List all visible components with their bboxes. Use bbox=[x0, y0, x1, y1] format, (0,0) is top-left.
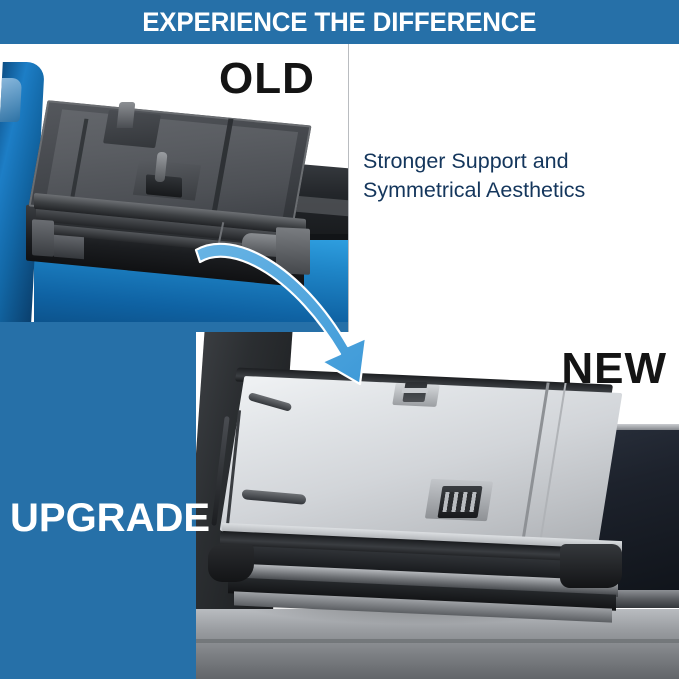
new-truck-bed-floor-seam bbox=[196, 639, 679, 643]
old-cover-bracket-right bbox=[276, 227, 310, 275]
upgrade-label: UPGRADE bbox=[10, 496, 210, 541]
old-cover-bracket-left bbox=[32, 219, 54, 257]
new-cover-mount-foot-left bbox=[208, 544, 254, 582]
new-cover-mount-foot-right bbox=[560, 544, 622, 588]
new-cover-center-latch-bars bbox=[442, 492, 477, 512]
promo-graphic: OLD Stronger Support and Symmetrical Aes… bbox=[0, 0, 679, 679]
old-tonneau-cover bbox=[24, 110, 314, 270]
header-banner: EXPERIENCE THE DIFFERENCE bbox=[0, 0, 679, 44]
feature-text-line-2: Symmetrical Aesthetics bbox=[363, 176, 667, 205]
new-product-photo: NEW bbox=[196, 332, 679, 679]
new-cover-rear-latch-bar bbox=[402, 388, 429, 393]
new-tonneau-cover bbox=[212, 376, 632, 626]
old-label: OLD bbox=[219, 54, 315, 104]
new-label: NEW bbox=[561, 344, 667, 394]
old-cover-rear-latch-hook bbox=[117, 102, 136, 128]
old-cover-bracket-left-lower bbox=[54, 235, 84, 260]
feature-text-wrapper: Stronger Support and Symmetrical Aesthet… bbox=[349, 147, 679, 231]
feature-text-card: Stronger Support and Symmetrical Aesthet… bbox=[348, 44, 679, 334]
old-truck-cab-window bbox=[0, 78, 22, 122]
feature-text-line-1: Stronger Support and bbox=[363, 147, 667, 176]
header-title: EXPERIENCE THE DIFFERENCE bbox=[142, 7, 536, 38]
